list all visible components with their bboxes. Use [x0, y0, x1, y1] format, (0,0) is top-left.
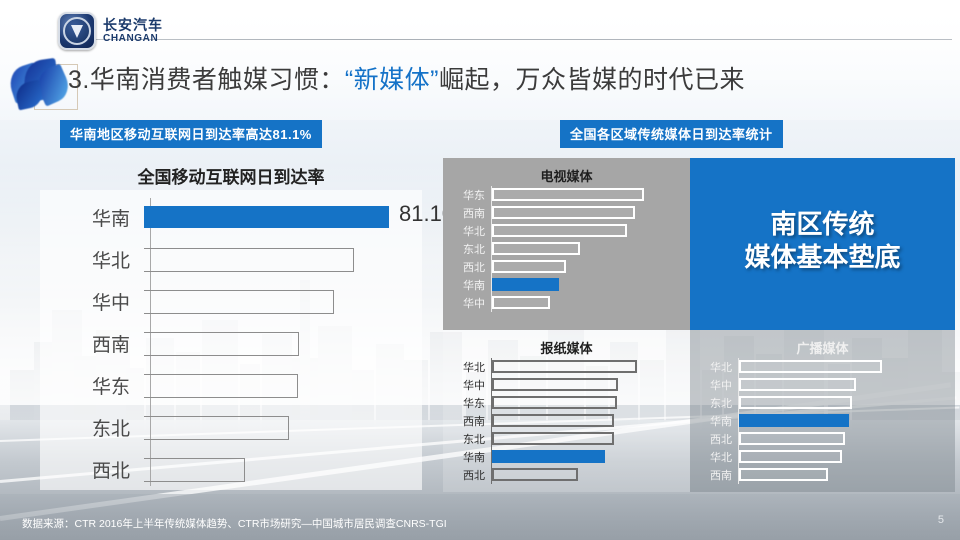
mini-chart-row: 华东: [443, 394, 690, 412]
mini-chart-bar: [492, 206, 635, 219]
mini-chart-row: 西北: [690, 430, 955, 448]
mini-chart-row: 华北: [443, 358, 690, 376]
badge-right: 全国各区域传统媒体日到达率统计: [560, 120, 783, 148]
mini-chart-bar: [492, 242, 580, 255]
tv-media-bars: 华东西南华北东北西北华南华中: [443, 186, 690, 324]
newspaper-media-title: 报纸媒体: [443, 338, 690, 357]
header-divider: [85, 39, 952, 40]
left-chart-category-label: 西北: [40, 456, 144, 483]
title-suffix: 崛起，万众皆媒的时代已来: [439, 66, 745, 94]
mini-chart-category-label: 西北: [443, 467, 491, 483]
mini-chart-bar: [739, 360, 882, 373]
mini-chart-row: 西南: [443, 204, 690, 222]
tv-media-panel: 电视媒体 华东西南华北东北西北华南华中: [443, 158, 690, 330]
left-chart-category-label: 华北: [40, 246, 144, 273]
left-chart-category-label: 华南: [40, 204, 144, 231]
mini-chart-category-label: 西北: [443, 259, 491, 275]
mini-chart-category-label: 东北: [690, 395, 738, 411]
mini-chart-category-label: 西南: [690, 467, 738, 483]
mini-chart-category-label: 华北: [690, 449, 738, 465]
brand-name-cn: 长安汽车: [103, 18, 163, 32]
mini-chart-category-label: 华东: [443, 187, 491, 203]
mini-chart-row: 西南: [443, 412, 690, 430]
newspaper-media-panel: 报纸媒体 华北华中华东西南东北华南西北: [443, 330, 690, 492]
mini-chart-bar: [739, 378, 856, 391]
title-highlight: “新媒体”: [345, 66, 439, 94]
mini-chart-category-label: 西北: [690, 431, 738, 447]
brand-logo: 长安汽车 CHANGAN: [58, 12, 163, 50]
callout-text: 南区传统 媒体基本垫底: [690, 208, 955, 273]
mini-chart-row: 华北: [690, 448, 955, 466]
left-chart-category-label: 华东: [40, 372, 144, 399]
mini-chart-row: 华北: [690, 358, 955, 376]
left-chart-category-label: 东北: [40, 414, 144, 441]
right-chart-grid: 电视媒体 华东西南华北东北西北华南华中 南区传统 媒体基本垫底 报纸媒体 华北华…: [443, 158, 955, 492]
left-chart-row: 华中: [40, 280, 422, 322]
slide: 长安汽车 CHANGAN 3.华南消费者触媒习惯：“新媒体”崛起，万众皆媒的时代…: [0, 0, 960, 540]
mini-chart-bar: [492, 378, 618, 391]
mini-chart-bar: [492, 224, 627, 237]
mini-chart-category-label: 华东: [443, 395, 491, 411]
mini-chart-category-label: 华北: [690, 359, 738, 375]
mini-chart-row: 东北: [443, 430, 690, 448]
mini-chart-bar: [492, 396, 617, 409]
mini-chart-category-label: 华北: [443, 359, 491, 375]
source-note: 数据来源：CTR 2016年上半年传统媒体趋势、CTR市场研究—中国城市居民调查…: [22, 517, 802, 532]
left-chart-bar: [144, 374, 298, 398]
brand-name-en: CHANGAN: [103, 34, 163, 44]
left-chart-bar: [144, 332, 299, 356]
mini-chart-bar: [739, 432, 845, 445]
mini-chart-bar: [492, 360, 637, 373]
mini-chart-category-label: 华北: [443, 223, 491, 239]
left-chart-row: 华北: [40, 238, 422, 280]
mini-chart-category-label: 华南: [443, 277, 491, 293]
left-chart-row: 西北: [40, 448, 422, 490]
mini-chart-row: 华中: [443, 376, 690, 394]
mini-chart-bar: [492, 278, 559, 291]
mini-chart-category-label: 华中: [443, 377, 491, 393]
page-title: 3.华南消费者触媒习惯：“新媒体”崛起，万众皆媒的时代已来: [68, 60, 745, 96]
mini-chart-row: 华南: [443, 276, 690, 294]
left-chart-category-label: 西南: [40, 330, 144, 357]
mini-chart-row: 华中: [690, 376, 955, 394]
blue-feather-decoration-icon: [4, 56, 76, 116]
mini-chart-row: 东北: [690, 394, 955, 412]
mini-chart-row: 西南: [690, 466, 955, 484]
mini-chart-category-label: 华中: [690, 377, 738, 393]
mini-chart-bar: [492, 432, 614, 445]
left-chart-bar: [144, 248, 354, 272]
badge-left: 华南地区移动互联网日到达率高达81.1%: [60, 120, 322, 148]
mini-chart-bar: [739, 468, 828, 481]
mini-chart-row: 华东: [443, 186, 690, 204]
mini-chart-bar: [492, 296, 550, 309]
left-chart-bar: [144, 206, 389, 228]
mini-chart-category-label: 西南: [443, 413, 491, 429]
mini-chart-category-label: 东北: [443, 431, 491, 447]
title-prefix: 3.华南消费者触媒习惯：: [68, 66, 345, 94]
newspaper-media-bars: 华北华中华东西南东北华南西北: [443, 358, 690, 486]
changan-oval-badge-icon: [58, 12, 96, 50]
left-bar-chart: 华南81.10%华北华中西南华东东北西北: [40, 190, 422, 490]
mini-chart-row: 西北: [443, 466, 690, 484]
radio-media-panel: 广播媒体 华北华中东北华南西北华北西南: [690, 330, 955, 492]
radio-media-bars: 华北华中东北华南西北华北西南: [690, 358, 955, 486]
mini-chart-category-label: 华南: [443, 449, 491, 465]
tv-media-title: 电视媒体: [443, 166, 690, 185]
mini-chart-row: 华中: [443, 294, 690, 312]
mini-chart-bar: [492, 414, 614, 427]
mini-chart-row: 东北: [443, 240, 690, 258]
mini-chart-row: 西北: [443, 258, 690, 276]
left-chart-bar: [144, 290, 334, 314]
mini-chart-bar: [739, 414, 849, 427]
left-chart-row: 华南81.10%: [40, 196, 422, 238]
left-chart-bar: [144, 458, 245, 482]
left-chart-row: 西南: [40, 322, 422, 364]
radio-media-title: 广播媒体: [690, 338, 955, 357]
left-chart-bar: [144, 416, 289, 440]
mini-chart-category-label: 华中: [443, 295, 491, 311]
mini-chart-category-label: 东北: [443, 241, 491, 257]
mini-chart-bar: [739, 396, 852, 409]
mini-chart-row: 华南: [690, 412, 955, 430]
mini-chart-row: 华北: [443, 222, 690, 240]
mini-chart-bar: [492, 468, 578, 481]
left-chart-row: 华东: [40, 364, 422, 406]
callout-line1: 南区传统: [690, 208, 955, 241]
mini-chart-category-label: 西南: [443, 205, 491, 221]
mini-chart-bar: [492, 260, 566, 273]
mini-chart-bar: [739, 450, 842, 463]
mini-chart-row: 华南: [443, 448, 690, 466]
left-chart-category-label: 华中: [40, 288, 144, 315]
mini-chart-bar: [492, 450, 605, 463]
callout-panel: 南区传统 媒体基本垫底: [690, 158, 955, 330]
mini-chart-category-label: 华南: [690, 413, 738, 429]
left-chart-row: 东北: [40, 406, 422, 448]
page-number: 5: [938, 514, 944, 526]
left-chart-title: 全国移动互联网日到达率: [40, 163, 422, 188]
mini-chart-bar: [492, 188, 644, 201]
callout-line2: 媒体基本垫底: [690, 241, 955, 274]
